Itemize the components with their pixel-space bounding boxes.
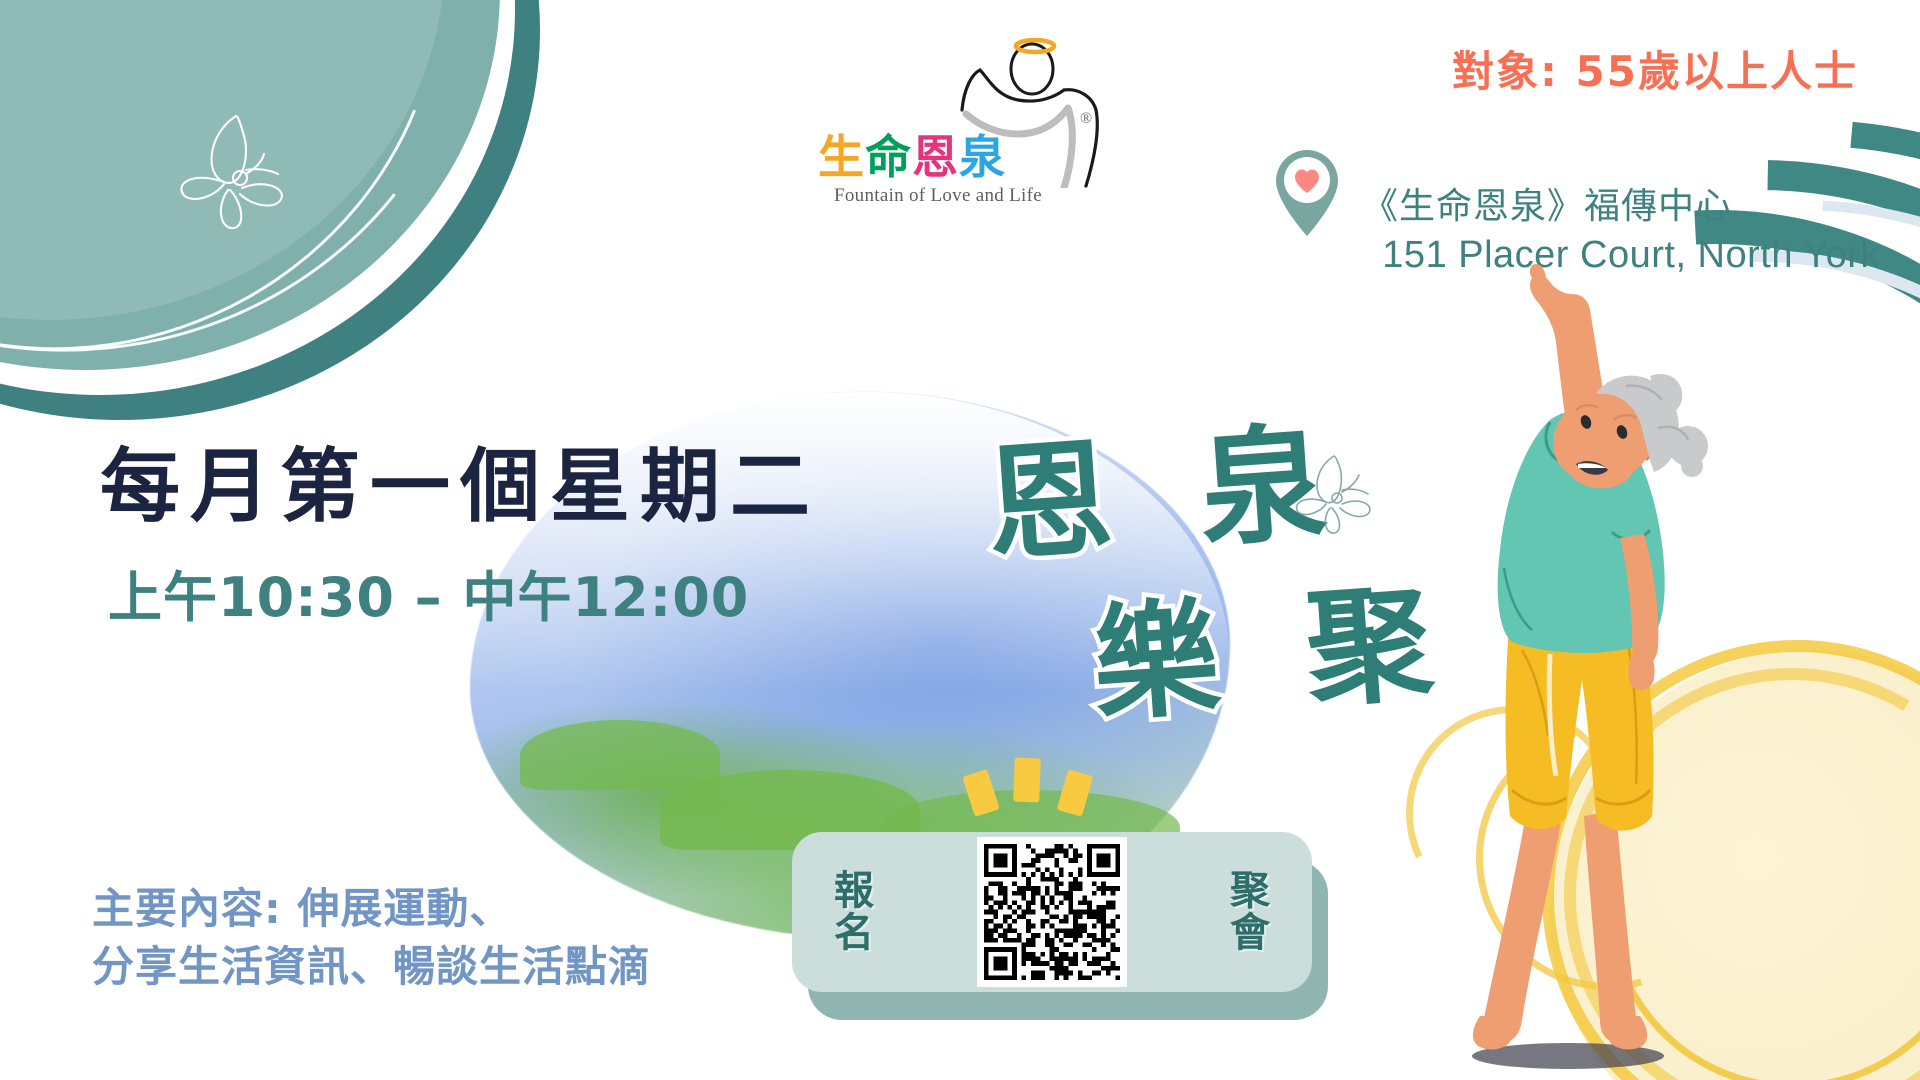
- brand-logo: 生命恩泉 Fountain of Love and Life ®: [818, 38, 1098, 198]
- event-content: 主要內容: 伸展運動、 分享生活資訊、暢談生活點滴: [92, 880, 651, 996]
- elderly-woman-stretching-illustration: [1400, 250, 1800, 1080]
- event-content-line-2: 分享生活資訊、暢談生活點滴: [92, 938, 651, 996]
- qr-code-canvas[interactable]: [984, 844, 1120, 980]
- logo-hanzi-char-2: 命: [865, 130, 912, 184]
- logo-english-tagline: Fountain of Love and Life: [818, 185, 1058, 207]
- butterfly-line-icon: [150, 78, 330, 253]
- signup-label-left: 報 名: [834, 870, 874, 954]
- grass-tuft: [520, 720, 720, 790]
- location-pin-heart-icon: [1272, 148, 1342, 238]
- signup-card[interactable]: 報 名 聚 會: [792, 832, 1312, 992]
- qr-code-icon[interactable]: [977, 837, 1127, 987]
- logo-hanzi-char-3: 恩: [912, 130, 959, 184]
- audience-text: 對象: 55歲以上人士: [1452, 38, 1858, 99]
- registered-trademark-icon: ®: [1080, 110, 1092, 128]
- signup-label-left-char-2: 名: [834, 912, 874, 954]
- logo-hanzi-char-4: 泉: [959, 130, 1006, 184]
- event-time: 上午10:30 – 中午12:00: [108, 553, 749, 632]
- butterfly-line-icon: [1282, 440, 1392, 536]
- signup-label-right-char-1: 聚: [1230, 870, 1270, 912]
- logo-hanzi: 生命恩泉: [818, 134, 1048, 180]
- venue-name: 《生命恩泉》福傳中心: [1362, 177, 1732, 229]
- logo-hanzi-char-1: 生: [818, 130, 865, 184]
- signup-label-right-char-2: 會: [1230, 912, 1270, 954]
- poster-canvas: 生命恩泉 Fountain of Love and Life ® 對象: 55歲…: [0, 0, 1920, 1080]
- event-date: 每月第一個星期二: [100, 422, 820, 538]
- signup-label-right: 聚 會: [1230, 870, 1270, 954]
- signup-label-left-char-1: 報: [834, 870, 874, 912]
- confetti-piece: [1013, 758, 1041, 803]
- event-content-line-1: 主要內容: 伸展運動、: [92, 880, 651, 938]
